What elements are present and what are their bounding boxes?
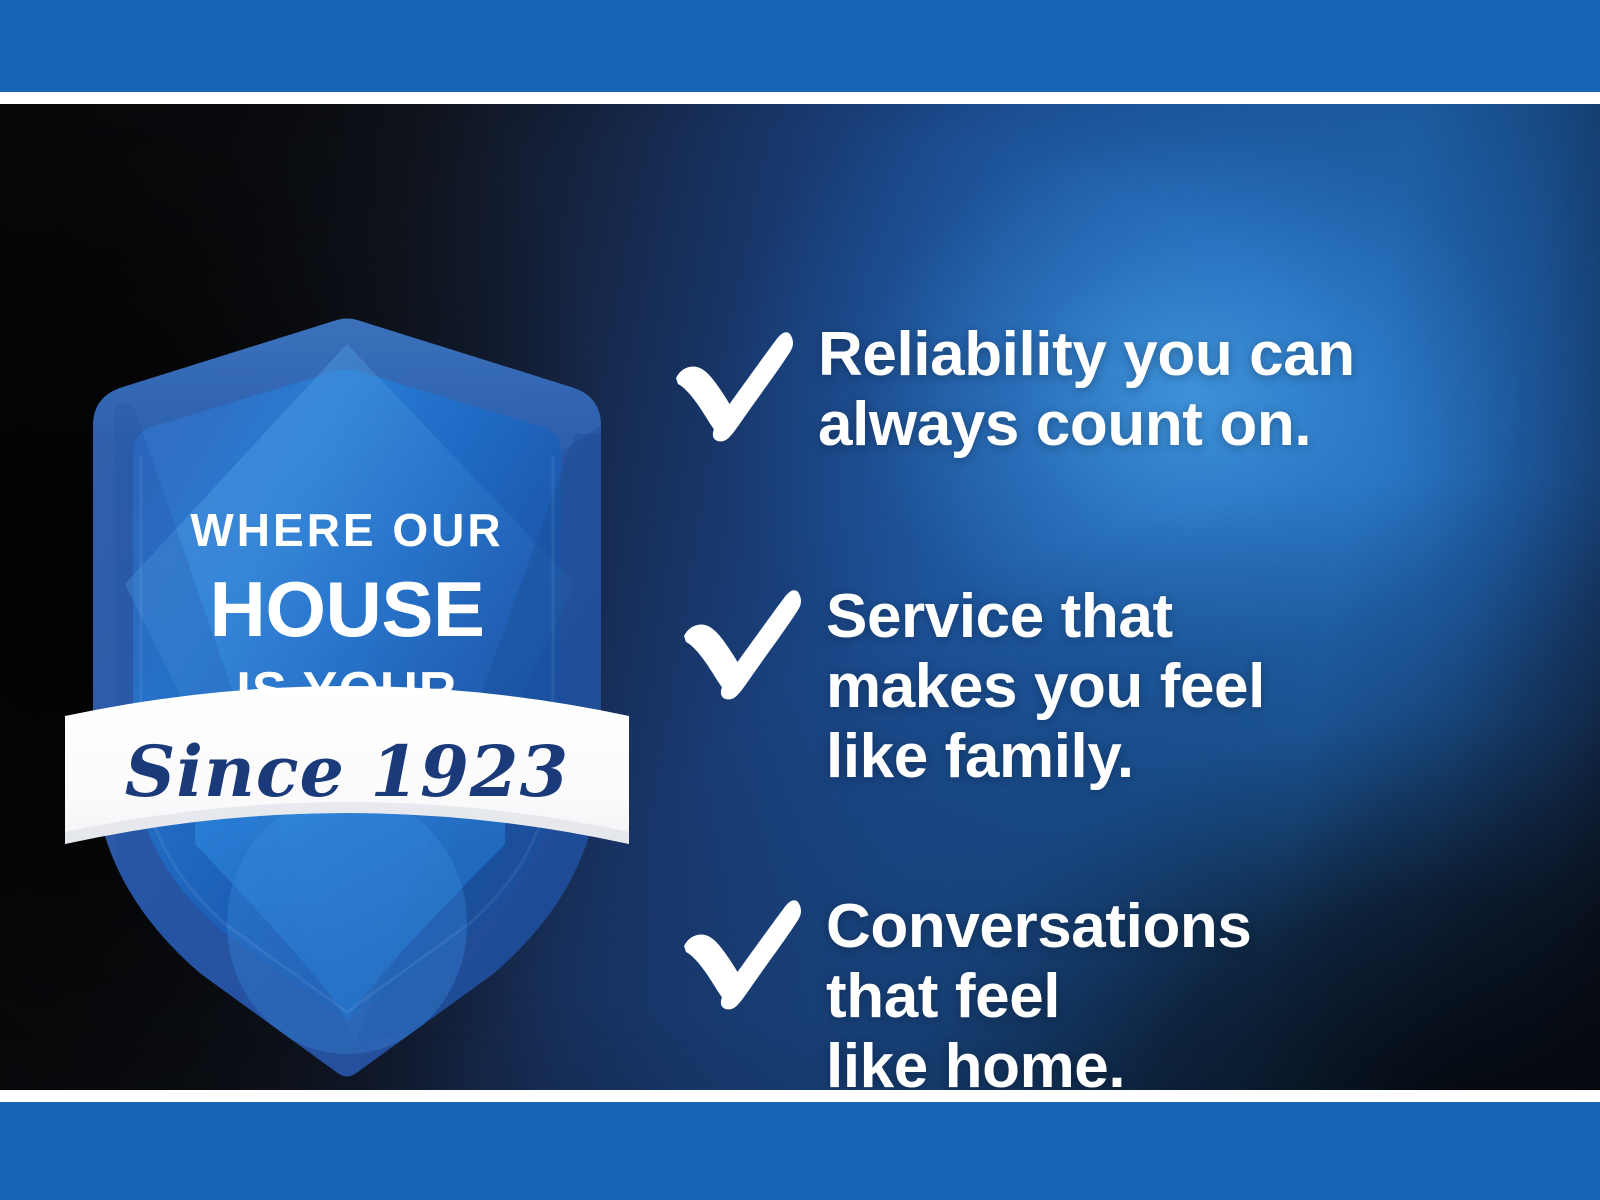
shield-emblem: WHERE OUR HOUSE IS YOUR HOUSE Since 1923: [55, 284, 635, 1074]
bottom-brand-bar: [0, 1102, 1600, 1200]
list-item: Reliability you can always count on.: [670, 320, 1355, 460]
checkmark-icon: [678, 894, 804, 1018]
list-item: Service that makes you feel like family.: [678, 578, 1265, 792]
shield-bottom-shine: [227, 794, 467, 1054]
list-item-label: Conversations that feel like home.: [826, 888, 1251, 1090]
promo-graphic: WHERE OUR HOUSE IS YOUR HOUSE Since 1923: [0, 0, 1600, 1200]
shield-line-1: WHERE OUR: [190, 504, 503, 556]
list-item-label: Service that makes you feel like family.: [826, 578, 1265, 792]
benefits-list: Reliability you can always count on. Ser…: [660, 208, 1520, 1090]
shield-line-2: HOUSE: [210, 565, 485, 653]
banner-text: Since 1923: [125, 730, 569, 813]
list-item: Conversations that feel like home.: [678, 888, 1251, 1090]
top-brand-bar: [0, 0, 1600, 92]
main-canvas: WHERE OUR HOUSE IS YOUR HOUSE Since 1923: [0, 104, 1600, 1090]
checkmark-icon: [670, 326, 796, 450]
checkmark-icon: [678, 584, 804, 708]
list-item-label: Reliability you can always count on.: [818, 320, 1355, 460]
